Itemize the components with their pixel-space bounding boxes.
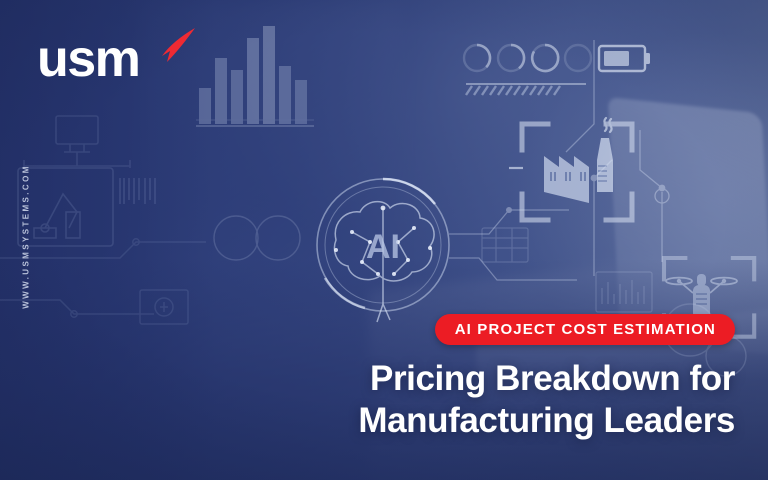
circuit-lines-left (0, 239, 206, 324)
logo-arrow-icon (137, 26, 197, 66)
headline-block: AI PROJECT COST ESTIMATION Pricing Break… (265, 314, 735, 442)
monitor-icon (24, 116, 130, 168)
robot-arm-icon (18, 168, 113, 246)
bar-chart-icon (196, 26, 314, 126)
battery-icon (599, 46, 650, 71)
headline-line-2: Manufacturing Leaders (265, 400, 735, 442)
barcode-icon (120, 178, 155, 204)
website-url-vertical: WWW.USMSYSTEMS.COM (22, 147, 31, 327)
svg-text:AI: AI (366, 228, 400, 266)
progress-track (466, 84, 586, 95)
grid-panel-icon (482, 228, 652, 312)
ai-cost-estimation-banner: AI (0, 0, 768, 480)
status-badge: AI PROJECT COST ESTIMATION (435, 314, 735, 345)
ai-brain-icon: AI (317, 179, 449, 322)
factory-icon (509, 118, 632, 220)
logo-wordmark: usm (37, 28, 139, 90)
headline-line-1: Pricing Breakdown for (265, 358, 735, 400)
usm-logo[interactable]: usm (37, 28, 187, 90)
page-title: Pricing Breakdown for Manufacturing Lead… (265, 358, 735, 442)
gauge-icon (464, 45, 591, 71)
